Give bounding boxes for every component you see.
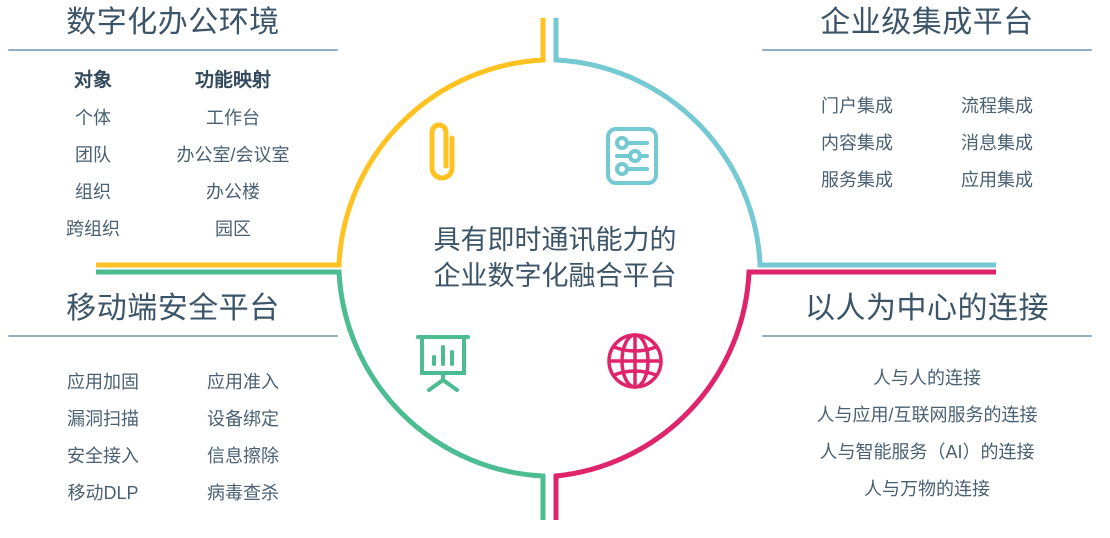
cell-integration-r0: 流程集成	[927, 97, 1067, 115]
divider-top-left	[8, 49, 338, 51]
cell-mapping-2: 办公楼	[153, 183, 313, 201]
center-title: 具有即时通讯能力的 企业数字化融合平台	[370, 222, 740, 295]
quadrant-title-bottom-left: 移动端安全平台	[8, 292, 338, 327]
quadrant-title-bottom-right: 以人为中心的连接	[762, 292, 1092, 327]
table-top-left: 对象 个体 团队 组织 跨组织 功能映射 工作台 办公室/会议室 办公楼 园区	[8, 71, 338, 238]
quadrant-enterprise-integration: 企业级集成平台 门户集成 内容集成 服务集成 流程集成 消息集成 应用集成	[762, 6, 1092, 189]
cell-security-r1: 设备绑定	[173, 410, 313, 428]
sliders-panel-icon	[600, 124, 664, 193]
list-item-3: 人与万物的连接	[762, 480, 1092, 498]
globe-icon	[604, 330, 666, 397]
cell-object-0: 个体	[33, 109, 153, 127]
quadrant-title-top-right: 企业级集成平台	[762, 6, 1092, 41]
cell-object-3: 跨组织	[33, 220, 153, 238]
presentation-chart-icon	[410, 330, 476, 399]
divider-bottom-left	[8, 335, 338, 337]
list-item-2: 人与智能服务（AI）的连接	[762, 443, 1092, 461]
column-integration-left: 门户集成 内容集成 服务集成	[787, 97, 927, 189]
center-title-line-2: 企业数字化融合平台	[370, 258, 740, 294]
quadrant-digital-office: 数字化办公环境 对象 个体 团队 组织 跨组织 功能映射 工作台 办公室/会议室…	[8, 6, 338, 238]
cell-security-r2: 信息擦除	[173, 447, 313, 465]
cell-security-l3: 移动DLP	[33, 484, 173, 502]
cell-security-r3: 病毒查杀	[173, 484, 313, 502]
list-item-0: 人与人的连接	[762, 369, 1092, 387]
cell-mapping-3: 园区	[153, 220, 313, 238]
cell-mapping-1: 办公室/会议室	[153, 146, 313, 164]
column-security-left: 应用加固 漏洞扫描 安全接入 移动DLP	[33, 373, 173, 502]
quadrant-mobile-security: 移动端安全平台 应用加固 漏洞扫描 安全接入 移动DLP 应用准入 设备绑定 信…	[8, 292, 338, 502]
cell-mapping-0: 工作台	[153, 109, 313, 127]
infographic-canvas: 具有即时通讯能力的 企业数字化融合平台 数字化办公环境 对象 个体 团队 组织 …	[0, 0, 1110, 538]
quadrant-people-centric: 以人为中心的连接 人与人的连接 人与应用/互联网服务的连接 人与智能服务（AI）…	[762, 292, 1092, 498]
cell-security-l0: 应用加固	[33, 373, 173, 391]
divider-bottom-right	[762, 335, 1092, 337]
cell-object-1: 团队	[33, 146, 153, 164]
cell-integration-r1: 消息集成	[927, 134, 1067, 152]
column-header-function-mapping: 功能映射	[153, 71, 313, 90]
column-integration-right: 流程集成 消息集成 应用集成	[927, 97, 1067, 189]
quadrant-title-top-left: 数字化办公环境	[8, 6, 338, 41]
paperclip-icon	[418, 118, 466, 189]
center-title-line-1: 具有即时通讯能力的	[370, 222, 740, 258]
cell-integration-l1: 内容集成	[787, 134, 927, 152]
list-item-1: 人与应用/互联网服务的连接	[762, 406, 1092, 424]
table-top-right: 门户集成 内容集成 服务集成 流程集成 消息集成 应用集成	[762, 97, 1092, 189]
cell-security-l1: 漏洞扫描	[33, 410, 173, 428]
cell-integration-l0: 门户集成	[787, 97, 927, 115]
cell-security-r0: 应用准入	[173, 373, 313, 391]
column-function-mapping: 功能映射 工作台 办公室/会议室 办公楼 园区	[153, 71, 313, 238]
column-object: 对象 个体 团队 组织 跨组织	[33, 71, 153, 238]
cell-object-2: 组织	[33, 183, 153, 201]
table-bottom-left: 应用加固 漏洞扫描 安全接入 移动DLP 应用准入 设备绑定 信息擦除 病毒查杀	[8, 373, 338, 502]
column-header-object: 对象	[33, 71, 153, 90]
column-security-right: 应用准入 设备绑定 信息擦除 病毒查杀	[173, 373, 313, 502]
cell-integration-r2: 应用集成	[927, 171, 1067, 189]
cell-integration-l2: 服务集成	[787, 171, 927, 189]
cell-security-l2: 安全接入	[33, 447, 173, 465]
divider-top-right	[762, 49, 1092, 51]
list-people-centric: 人与人的连接 人与应用/互联网服务的连接 人与智能服务（AI）的连接 人与万物的…	[762, 369, 1092, 498]
